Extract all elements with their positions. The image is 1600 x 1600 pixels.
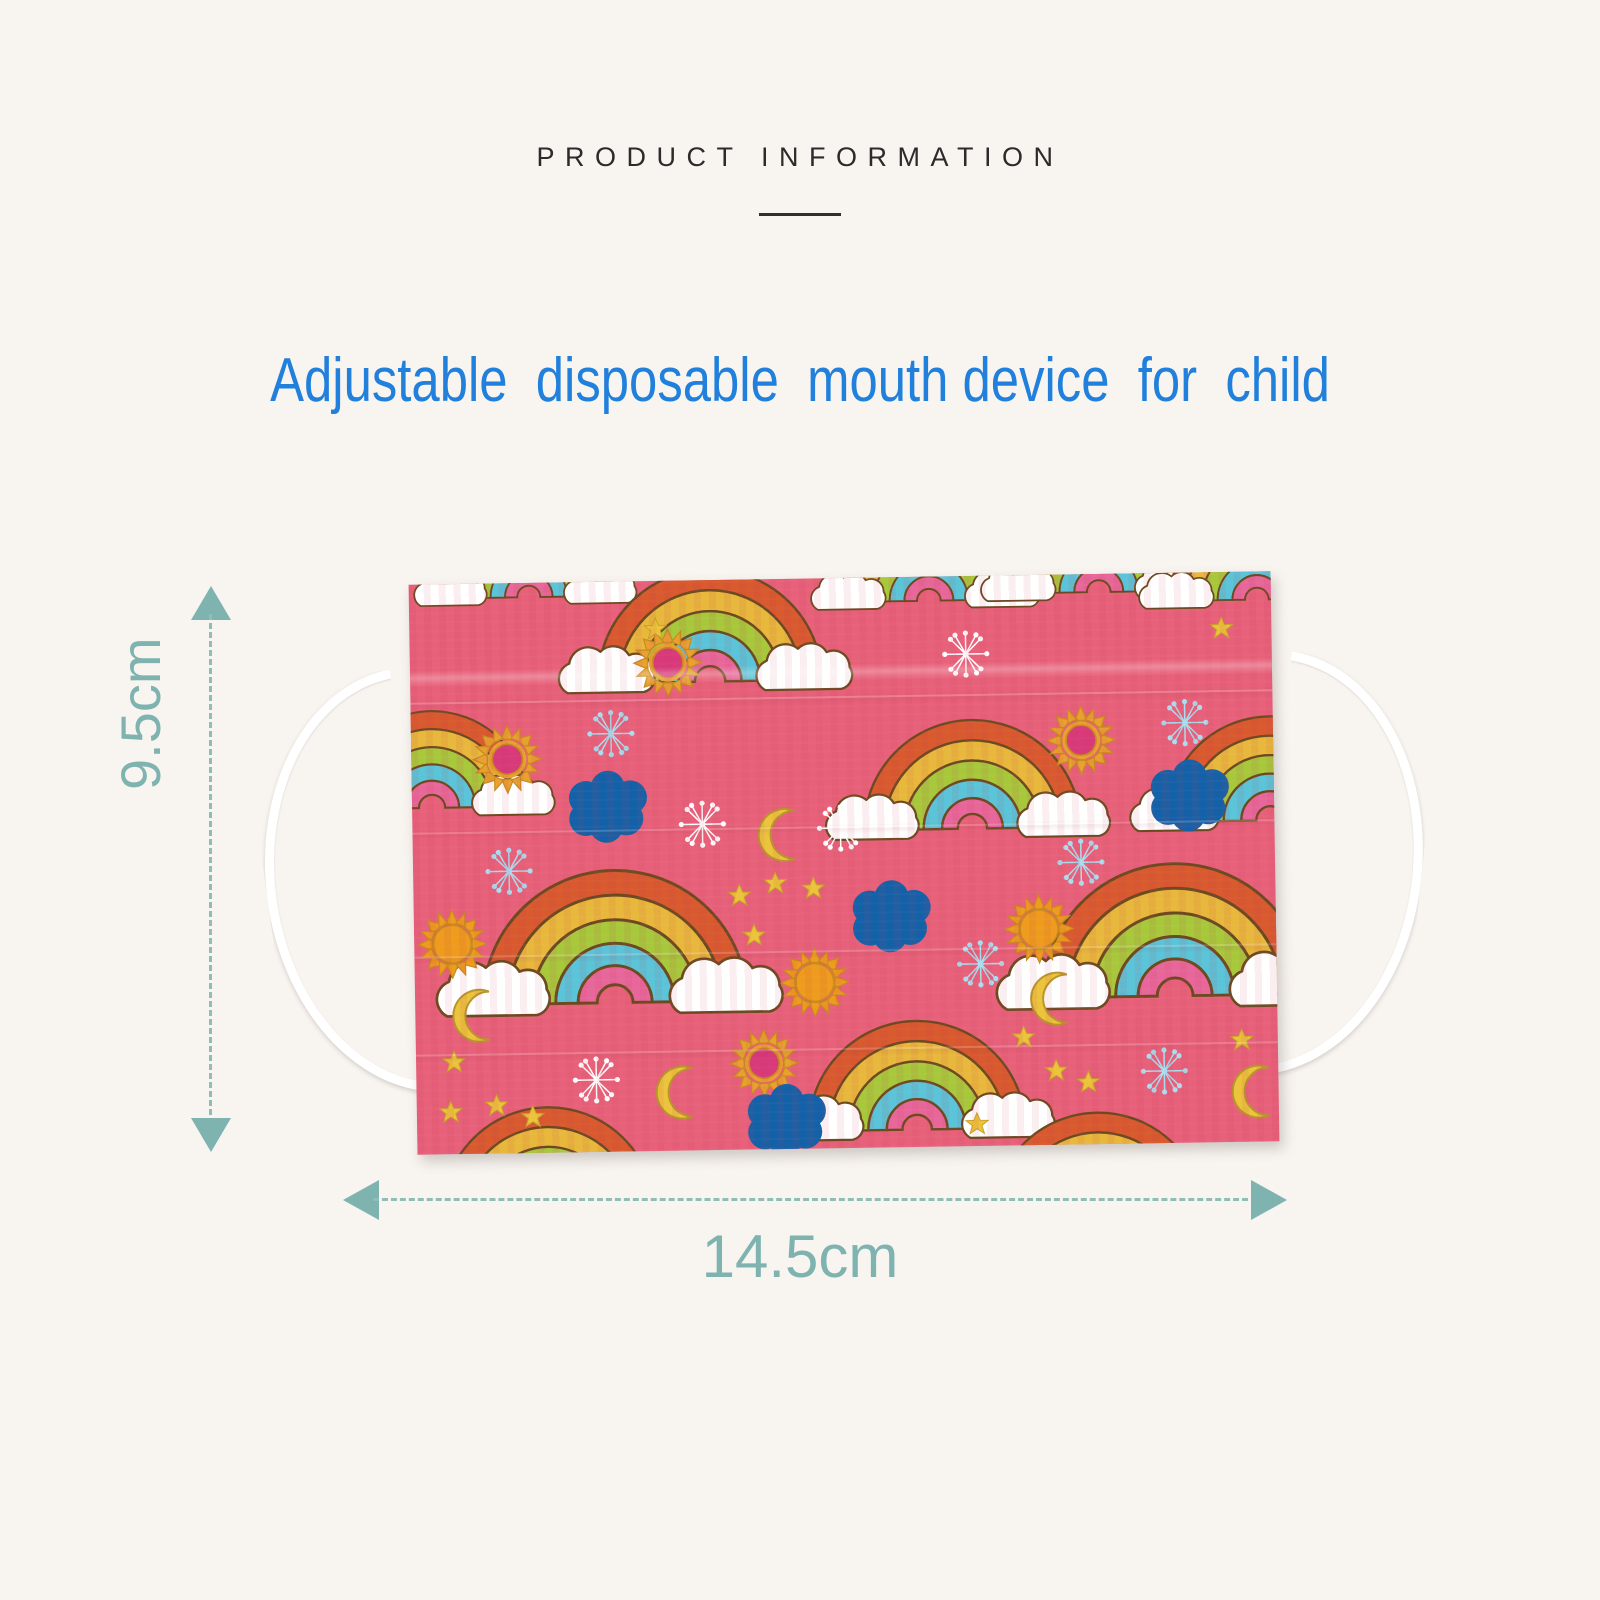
arrow-right-icon xyxy=(1251,1180,1287,1220)
section-eyebrow: PRODUCT INFORMATION xyxy=(0,142,1600,173)
mask-body xyxy=(409,571,1280,1154)
title-divider xyxy=(759,213,841,216)
product-info-page: PRODUCT INFORMATION Adjustable disposabl… xyxy=(0,0,1600,1600)
width-dimension-arrow xyxy=(345,1198,1285,1201)
width-label: 14.5cm xyxy=(0,1222,1600,1291)
height-label: 9.5cm xyxy=(108,638,173,791)
dashed-line xyxy=(373,1198,1257,1201)
dashed-line xyxy=(209,614,212,1124)
height-dimension-arrow xyxy=(209,588,212,1150)
face-mask-photo xyxy=(409,571,1280,1154)
arrow-down-icon xyxy=(191,1118,231,1152)
page-headline: Adjustable disposable mouth device for c… xyxy=(144,345,1456,416)
